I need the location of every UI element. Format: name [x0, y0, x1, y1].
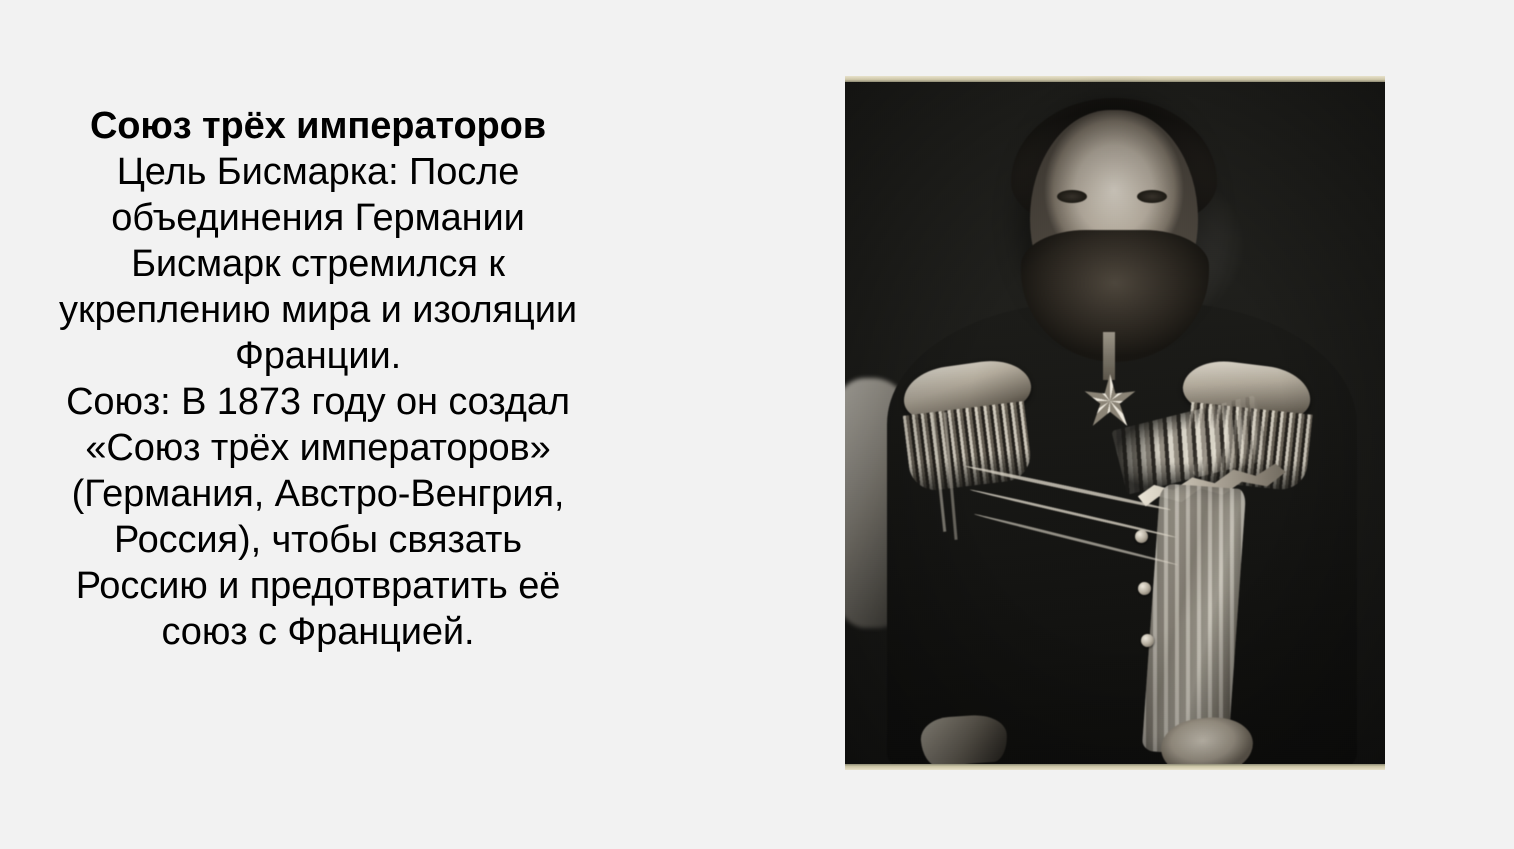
boot-shape — [919, 713, 1008, 767]
body-line-3: Бисмарк стремился к — [4, 241, 632, 287]
body-line-8: (Германия, Австро-Венгрия, — [4, 471, 632, 517]
neck-order-ribbon-shape — [1103, 332, 1115, 380]
tunic-button-shape — [1141, 634, 1154, 647]
right-cuff-embroidery-shape — [1238, 691, 1348, 764]
body-line-6: Союз: В 1873 году он создал — [4, 379, 632, 425]
body-line-10: Россию и предотвратить её — [4, 563, 632, 609]
slide-canvas: Союз трёх императоров Цель Бисмарка: Пос… — [0, 0, 1514, 849]
body-line-1: Цель Бисмарка: После — [4, 149, 632, 195]
body-line-5: Франции. — [4, 333, 632, 379]
body-line-11: союз с Францией. — [4, 609, 632, 655]
slide-text-body: Союз трёх императоров Цель Бисмарка: Пос… — [4, 103, 632, 655]
page-title: Союз трёх императоров — [4, 103, 632, 149]
body-line-7: «Союз трёх императоров» — [4, 425, 632, 471]
portrait-image-plate — [845, 82, 1385, 764]
tunic-button-shape — [1138, 582, 1151, 595]
photo-mount-bottom-edge — [845, 764, 1385, 770]
portrait-photo — [845, 76, 1385, 770]
body-line-4: укреплению мира и изоляции — [4, 287, 632, 333]
body-line-9: Россия), чтобы связать — [4, 517, 632, 563]
left-eye-shape — [1057, 190, 1087, 203]
tunic-button-shape — [1135, 530, 1148, 543]
right-eye-shape — [1137, 190, 1167, 203]
body-line-2: объединения Германии — [4, 195, 632, 241]
left-epaulette-fringe-shape — [903, 401, 1034, 493]
